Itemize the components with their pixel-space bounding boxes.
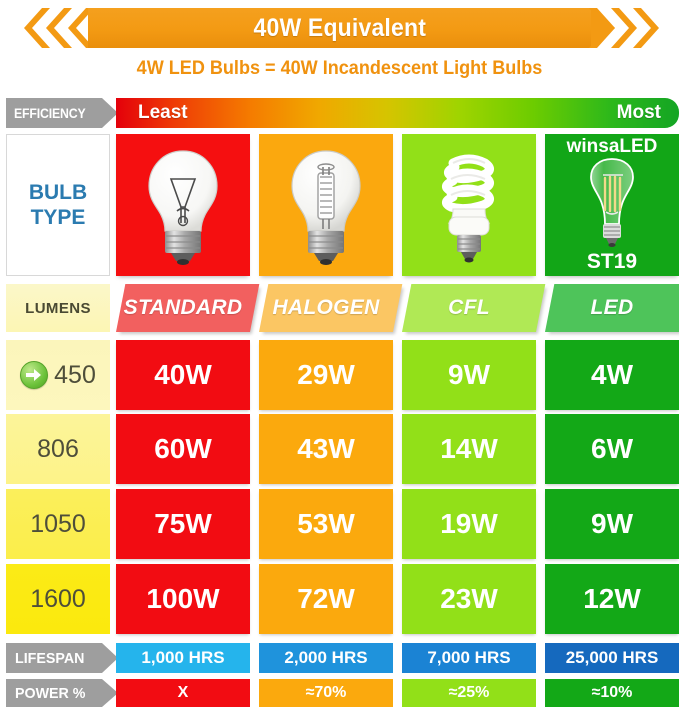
lifespan-halogen: 2,000 HRS	[259, 643, 393, 673]
halogen-bulb-icon	[280, 145, 372, 265]
table-row: 1050 75W 53W 19W 9W	[0, 489, 679, 561]
cell-led: 6W	[545, 414, 679, 484]
page-subtitle: 4W LED Bulbs = 40W Incandescent Light Bu…	[17, 58, 662, 80]
cell-cfl: 9W	[402, 340, 536, 410]
power-percent-label: POWER %	[6, 679, 118, 707]
type-header-led: LED	[545, 284, 679, 332]
lifespan-row: LIFESPAN 1,000 HRS 2,000 HRS 7,000 HRS 2…	[0, 643, 679, 675]
cell-cfl: 14W	[402, 414, 536, 484]
page-title: 40W Equivalent	[253, 14, 426, 43]
cell-led: 9W	[545, 489, 679, 559]
lumens-value-cell: 806	[6, 414, 110, 484]
cell-cfl: 19W	[402, 489, 536, 559]
table-row: 1600 100W 72W 23W 12W	[0, 564, 679, 636]
type-header-led-label: LED	[591, 296, 634, 320]
cell-standard: 60W	[116, 414, 250, 484]
cell-halogen: 43W	[259, 414, 393, 484]
bulb-cell-standard	[116, 134, 250, 276]
lumens-value: 450	[54, 361, 96, 390]
led-brand-label: winsaLED	[567, 136, 658, 158]
led-model-label: ST19	[587, 250, 637, 274]
bulb-cell-halogen	[259, 134, 393, 276]
bulb-type-row: BULB TYPE	[0, 134, 679, 280]
efficiency-label-text: EFFICIENCY	[14, 105, 85, 121]
power-standard: X	[116, 679, 250, 707]
power-percent-row: POWER % X ≈70% ≈25% ≈10%	[0, 679, 679, 709]
banner-body: 40W Equivalent	[88, 8, 591, 48]
cell-led: 12W	[545, 564, 679, 634]
arrow-right-circle-icon	[20, 361, 48, 389]
type-header-standard: STANDARD	[116, 284, 250, 332]
cell-halogen: 53W	[259, 489, 393, 559]
efficiency-row: EFFICIENCY Least Most	[0, 98, 679, 128]
power-cfl: ≈25%	[402, 679, 536, 707]
efficiency-most-label: Most	[617, 102, 661, 124]
lumens-header-cell: LUMENS	[6, 284, 110, 332]
table-row: 450 40W 29W 9W 4W	[0, 340, 679, 412]
cell-halogen: 72W	[259, 564, 393, 634]
efficiency-gradient-bar: Least Most	[116, 98, 679, 128]
power-halogen: ≈70%	[259, 679, 393, 707]
table-row: 806 60W 43W 14W 6W	[0, 414, 679, 486]
cell-cfl: 23W	[402, 564, 536, 634]
lumens-value-cell: 450	[6, 340, 110, 410]
efficiency-label: EFFICIENCY	[6, 98, 118, 128]
cell-led: 4W	[545, 340, 679, 410]
type-header-row: LUMENS STANDARD HALOGEN CFL LED	[0, 284, 679, 334]
lifespan-standard: 1,000 HRS	[116, 643, 250, 673]
lifespan-label-text: LIFESPAN	[15, 650, 84, 667]
type-header-cfl-label: CFL	[448, 296, 490, 320]
infographic-root: 40W Equivalent 4W LED Bulbs = 40W Incand…	[0, 0, 679, 712]
type-header-standard-label: STANDARD	[124, 296, 243, 320]
power-led: ≈10%	[545, 679, 679, 707]
bulb-type-line1: BULB	[29, 180, 87, 205]
efficiency-least-label: Least	[138, 102, 188, 124]
title-banner: 40W Equivalent	[0, 4, 679, 52]
lifespan-led: 25,000 HRS	[545, 643, 679, 673]
power-percent-label-text: POWER %	[15, 685, 85, 702]
bulb-type-line2: TYPE	[31, 205, 86, 230]
lumens-value: 1050	[30, 510, 86, 539]
lumens-value-cell: 1050	[6, 489, 110, 559]
cell-standard: 75W	[116, 489, 250, 559]
lumens-value-cell: 1600	[6, 564, 110, 634]
lumens-header-label: LUMENS	[25, 300, 91, 317]
type-header-halogen-label: HALOGEN	[272, 296, 379, 320]
cell-halogen: 29W	[259, 340, 393, 410]
type-header-cfl: CFL	[402, 284, 536, 332]
lifespan-label: LIFESPAN	[6, 643, 118, 673]
lumens-value: 1600	[30, 585, 86, 614]
cell-standard: 100W	[116, 564, 250, 634]
led-st19-bulb-icon	[575, 156, 649, 252]
cell-standard: 40W	[116, 340, 250, 410]
banner-chevron-right-3	[633, 8, 659, 48]
lifespan-cfl: 7,000 HRS	[402, 643, 536, 673]
bulb-type-header: BULB TYPE	[6, 134, 110, 276]
type-header-halogen: HALOGEN	[259, 284, 393, 332]
incandescent-bulb-icon	[137, 145, 229, 265]
bulb-cell-led: winsaLED	[545, 134, 679, 276]
lumens-value: 806	[37, 435, 79, 464]
cfl-spiral-bulb-icon	[423, 145, 515, 265]
bulb-cell-cfl	[402, 134, 536, 276]
